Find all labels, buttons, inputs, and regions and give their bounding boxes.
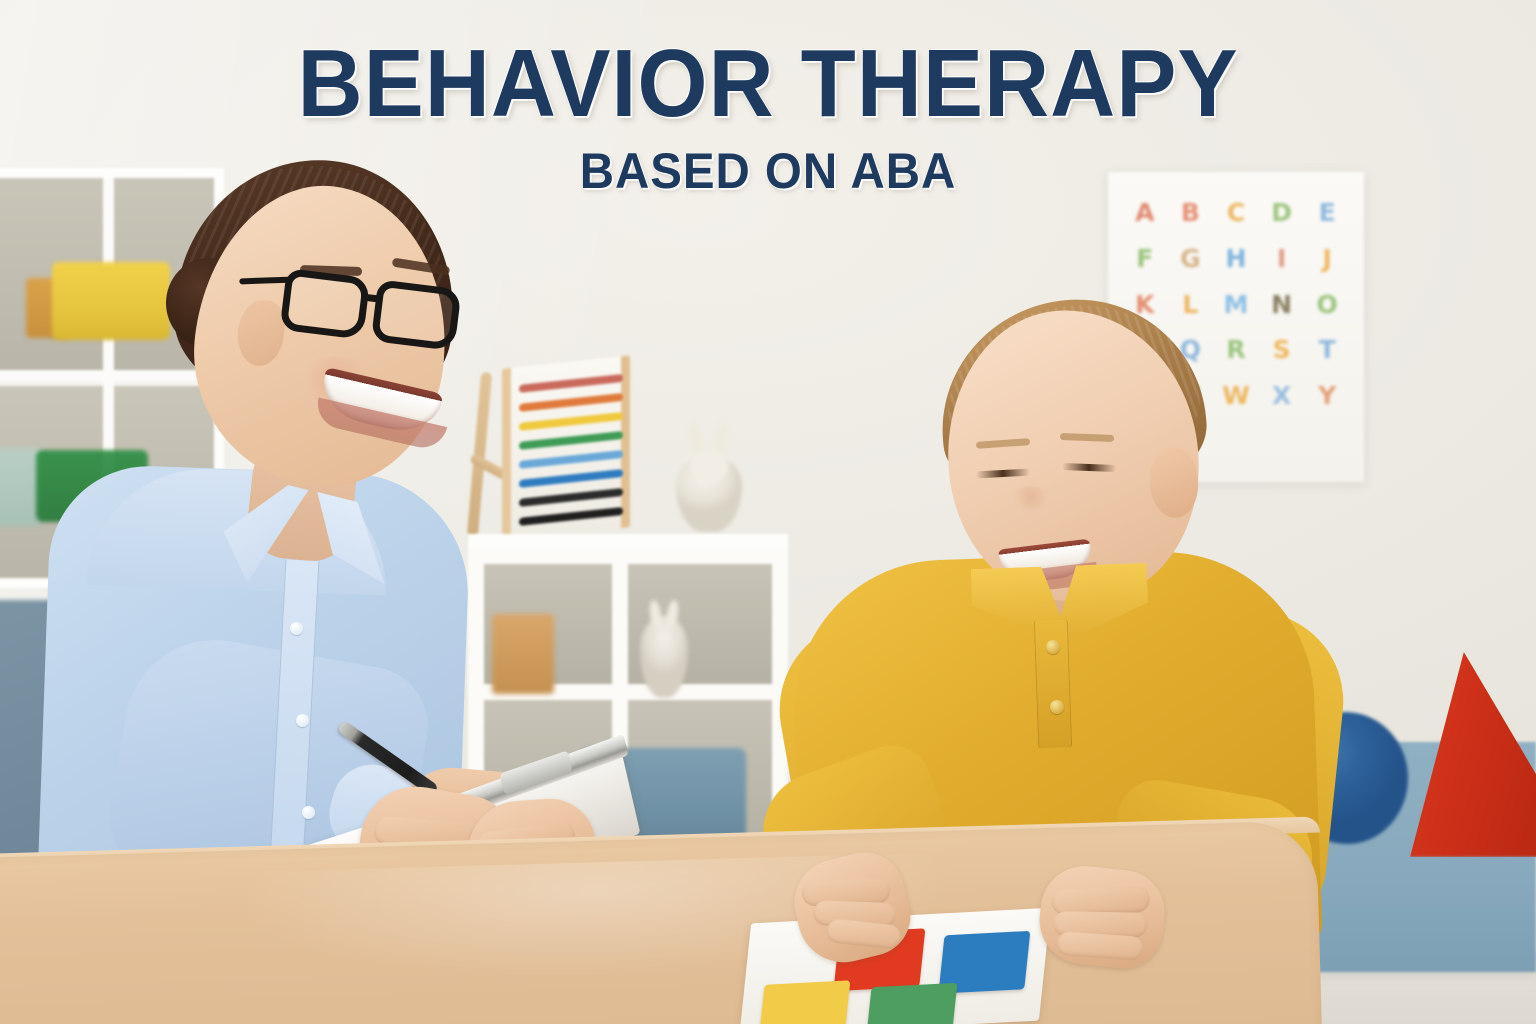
poster-letter: D	[1259, 190, 1305, 236]
poster-letter: X	[1259, 373, 1305, 419]
abacus-bead-row	[519, 507, 623, 526]
poster-letter: S	[1259, 327, 1305, 373]
rainbow-abacus	[470, 356, 638, 542]
polo-button	[1046, 640, 1060, 654]
poster-letter: G	[1168, 236, 1214, 282]
poster-letter: W	[1213, 373, 1259, 419]
poster-letter: T	[1304, 327, 1350, 373]
abacus-bead-row	[519, 412, 623, 431]
poster-letter	[1259, 418, 1305, 464]
shirt-button	[290, 622, 303, 635]
poster-letter: J	[1304, 236, 1350, 282]
abacus-bead-row	[519, 393, 623, 412]
poster-letter: Y	[1304, 373, 1350, 419]
poster-letter: A	[1122, 190, 1168, 236]
bunny-plush-large	[672, 420, 746, 532]
bunny-plush-small	[640, 616, 688, 698]
banner-image: ABCDEFGHIJKLMNOPQRSTUVWXYZ	[0, 0, 1536, 1024]
abacus-bead-row	[519, 450, 623, 469]
poster-letter: M	[1213, 281, 1259, 327]
poster-letter	[1304, 418, 1350, 464]
poster-letter	[1213, 418, 1259, 464]
poster-letter: R	[1213, 327, 1259, 373]
poster-letter: L	[1168, 281, 1214, 327]
abacus-bead-row	[519, 469, 623, 488]
abacus-bead-row	[519, 431, 623, 450]
poster-letter: I	[1259, 236, 1305, 282]
poster-letter: N	[1259, 281, 1305, 327]
card-green	[866, 983, 958, 1024]
abacus-bead-row	[519, 488, 623, 507]
polo-button	[1050, 700, 1064, 714]
poster-letter: F	[1122, 236, 1168, 282]
shirt-button	[296, 714, 309, 727]
child-polo-placket	[1034, 619, 1072, 748]
abacus-bead-row	[519, 374, 623, 393]
poster-letter: E	[1304, 190, 1350, 236]
child-nose	[1012, 486, 1050, 512]
poster-letter: B	[1168, 190, 1214, 236]
abacus-frame	[502, 355, 630, 540]
poster-letter: O	[1304, 281, 1350, 327]
poster-letter: H	[1213, 236, 1259, 282]
shelf-bin-yellow	[52, 262, 170, 340]
shelf-box-tan	[492, 614, 554, 694]
poster-letter: C	[1213, 190, 1259, 236]
card-yellow	[759, 980, 851, 1024]
